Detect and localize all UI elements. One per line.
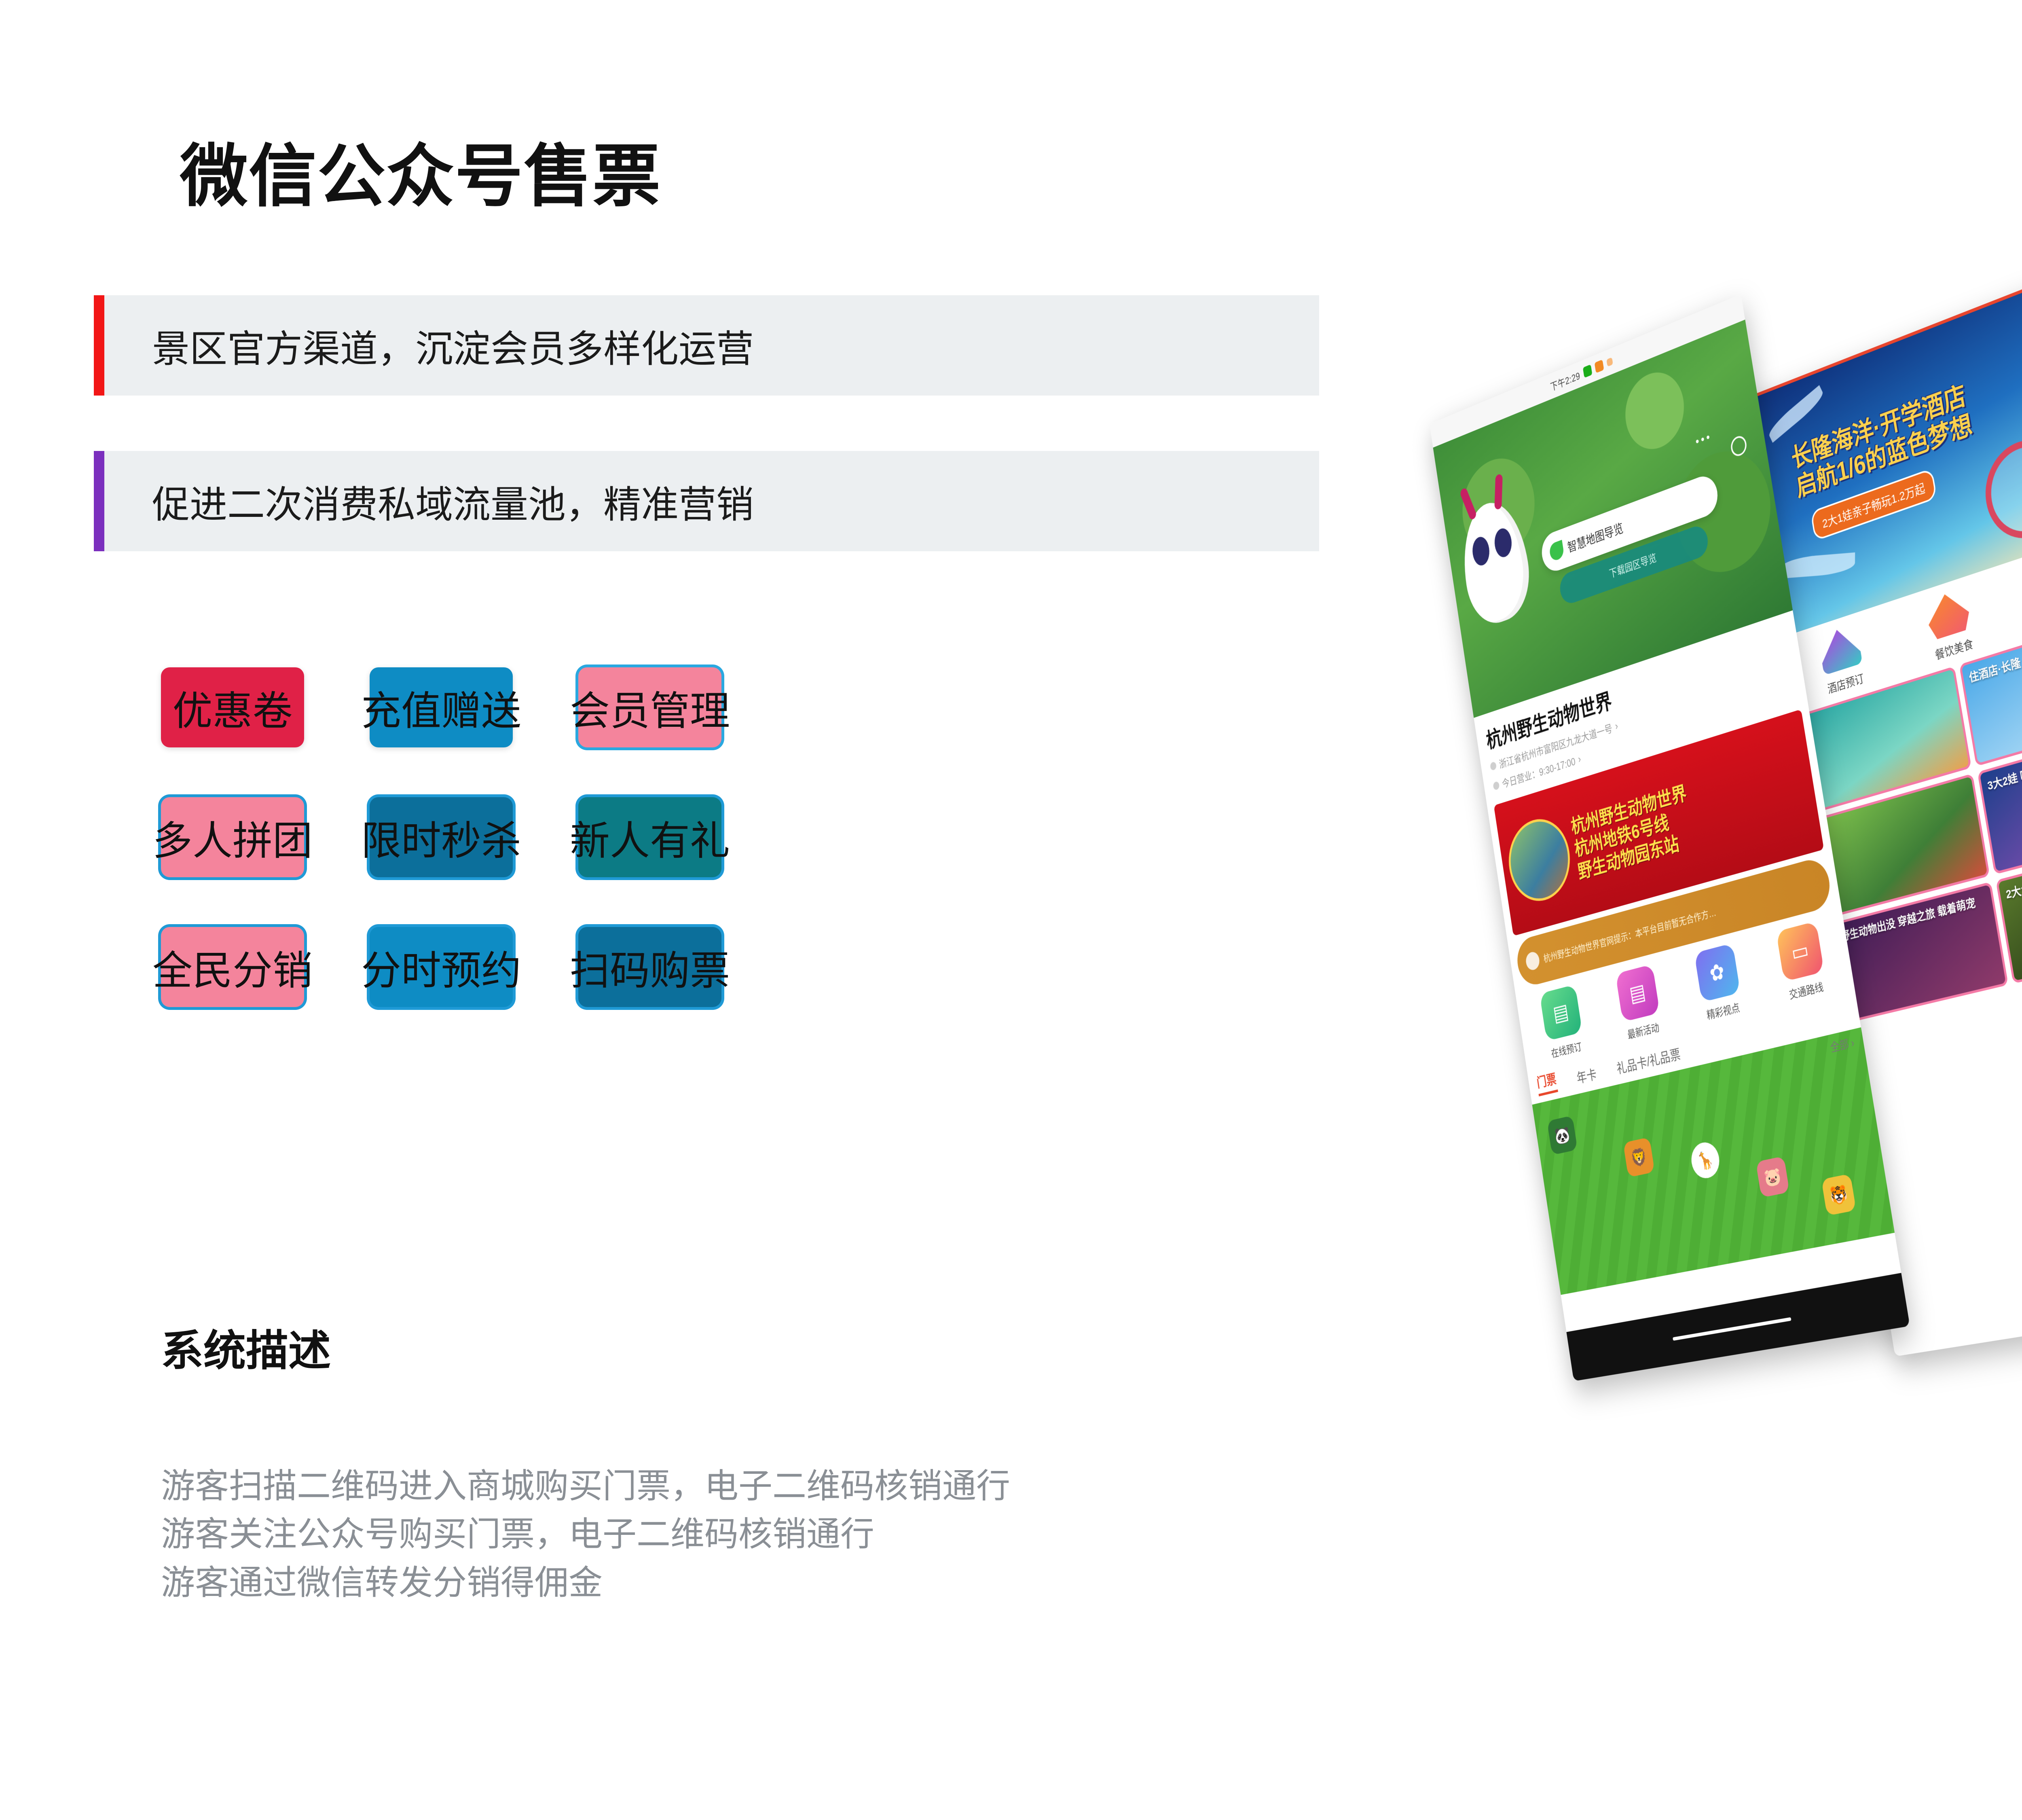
app-icon-small	[1606, 357, 1613, 366]
tab-annual-card[interactable]: 年卡	[1575, 1064, 1598, 1087]
fish-illustration	[1781, 552, 1855, 579]
subtitle-text-2: 促进二次消费私域流量池，精准营销	[152, 474, 754, 529]
subtitle-accent-2	[94, 451, 104, 551]
page-title: 微信公众号售票	[180, 121, 661, 220]
feature-tag[interactable]: 新人有礼	[578, 797, 721, 877]
mascot-illustration	[1456, 492, 1535, 632]
mascot-eye-left	[1471, 534, 1491, 568]
fish-illustration	[1766, 385, 1825, 442]
dining-icon	[1925, 588, 1972, 641]
booking-icon: ▤	[1539, 984, 1582, 1041]
feature-tag[interactable]: 分时预约	[370, 927, 513, 1007]
system-description-line: 游客扫描二维码进入商城购买门票，电子二维码核销通行	[161, 1462, 1010, 1510]
quick-action-item[interactable]: ▤ 最新活动	[1597, 959, 1681, 1047]
feature-tag[interactable]: 限时秒杀	[370, 797, 513, 877]
system-description-body: 游客扫描二维码进入商城购买门票，电子二维码核销通行 游客关注公众号购买门票，电子…	[161, 1462, 1010, 1607]
feature-tag-grid: 优惠卷 充值赠送 会员管理 多人拼团 限时秒杀 新人有礼 全民分销 分时预约 扫…	[161, 667, 721, 1007]
phone-mockup-group: 下午2:29 ••• 智慧地图导览 下载园区导览	[1440, 307, 2022, 1602]
porthole-illustration	[1978, 428, 2022, 550]
left-content-column: 微信公众号售票 景区官方渠道，沉淀会员多样化运营 促进二次消费私域流量池，精准营…	[0, 0, 1537, 1820]
tab-tickets[interactable]: 门票	[1536, 1069, 1558, 1096]
feature-tag[interactable]: 扫码购票	[578, 927, 721, 1007]
feature-tag-label: 全民分销	[152, 938, 313, 996]
feature-tag-label: 扫码购票	[570, 938, 730, 996]
more-dots-icon[interactable]: •••	[1694, 430, 1713, 450]
animal-avatar: 🦒	[1689, 1140, 1722, 1181]
system-description-heading: 系统描述	[161, 1316, 331, 1378]
chevron-right-icon: ›	[1577, 753, 1582, 766]
subtitle-bar-1: 景区官方渠道，沉淀会员多样化运营	[94, 295, 1319, 396]
see-all-link[interactable]: 全部 ›	[1829, 1034, 1855, 1055]
category-label: 长隆年卡	[2009, 586, 2022, 639]
feature-tag[interactable]: 充值赠送	[370, 667, 513, 747]
target-icon[interactable]	[1730, 434, 1748, 458]
subtitle-bar-2: 促进二次消费私域流量池，精准营销	[94, 451, 1319, 551]
location-pin-icon	[1490, 761, 1497, 771]
mascot-eye-right	[1493, 526, 1513, 560]
banner-photo	[1504, 811, 1576, 908]
home-indicator-bar	[1566, 1273, 1910, 1381]
feature-tag[interactable]: 优惠卷	[161, 667, 304, 747]
feature-tag[interactable]: 全民分销	[161, 927, 304, 1007]
quick-action-item[interactable]: ▤ 在线预订	[1522, 980, 1603, 1066]
map-download-label: 下载园区导览	[1608, 550, 1658, 581]
home-indicator	[1673, 1317, 1791, 1341]
quick-action-item[interactable]: ✿ 精彩视点	[1675, 938, 1763, 1028]
map-guide-label: 智慧地图导览	[1566, 518, 1624, 556]
feature-tag-label: 新人有礼	[570, 808, 730, 866]
feature-tag-label: 分时预约	[361, 938, 521, 996]
see-all-label: 全部	[1830, 1037, 1850, 1054]
leaf-icon	[1548, 540, 1564, 562]
hotel-icon	[1818, 624, 1863, 675]
banner-text: 杭州野生动物世界 杭州地铁6号线 野生动物园东站	[1569, 781, 1695, 883]
feature-tag-label: 会员管理	[570, 678, 730, 736]
feature-tag[interactable]: 多人拼团	[161, 797, 304, 877]
feature-tag-label: 充值赠送	[361, 678, 521, 736]
clock-icon	[1493, 781, 1500, 791]
highlight-icon: ✿	[1694, 943, 1741, 1002]
animal-avatar: 🐷	[1756, 1156, 1790, 1198]
wechat-icon	[1583, 364, 1593, 378]
feature-tag-label: 多人拼团	[152, 808, 313, 866]
subtitle-body-1: 景区官方渠道，沉淀会员多样化运营	[104, 295, 1319, 396]
system-description-line: 游客关注公众号购买门票，电子二维码核销通行	[161, 1510, 1010, 1558]
app-icon	[1595, 360, 1604, 373]
megaphone-icon	[1525, 950, 1541, 971]
feature-tag[interactable]: 会员管理	[578, 667, 721, 747]
animal-avatar: 🐯	[1821, 1174, 1856, 1216]
transport-icon: ▭	[1776, 921, 1824, 982]
subtitle-body-2: 促进二次消费私域流量池，精准营销	[104, 451, 1319, 551]
feature-tag-label: 优惠卷	[173, 678, 293, 736]
feature-tag-label: 限时秒杀	[361, 808, 521, 866]
slide-root: 微信公众号售票 景区官方渠道，沉淀会员多样化运营 促进二次消费私域流量池，精准营…	[0, 0, 2022, 1820]
subtitle-text-1: 景区官方渠道，沉淀会员多样化运营	[152, 318, 754, 373]
animal-avatar: 🦁	[1623, 1137, 1654, 1177]
chevron-right-icon: ›	[1614, 720, 1619, 732]
system-description-line: 游客通过微信转发分销得佣金	[161, 1559, 1010, 1607]
subtitle-accent-1	[94, 295, 104, 396]
activity-icon: ▤	[1615, 964, 1660, 1022]
animal-avatar: 🐼	[1547, 1115, 1578, 1155]
